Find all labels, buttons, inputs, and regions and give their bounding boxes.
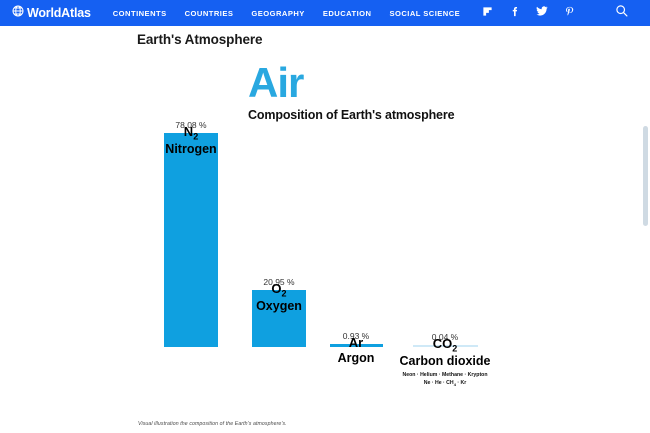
nav-item-countries[interactable]: COUNTRIES xyxy=(185,9,234,18)
globe-icon xyxy=(12,4,24,22)
infographic-caption: Visual illustration the composition of t… xyxy=(138,421,287,427)
site-navbar: WorldAtlas CONTINENTS COUNTRIES GEOGRAPH… xyxy=(0,0,650,26)
bar-name-carbon-dioxide: Carbon dioxide xyxy=(395,354,495,369)
bar-group-argon: 0.93 % Ar Argon xyxy=(311,331,401,347)
site-logo-text: WorldAtlas xyxy=(27,7,91,20)
bar-group-nitrogen: 78.08 % N2 Nitrogen xyxy=(143,120,239,347)
facebook-icon[interactable] xyxy=(509,4,520,22)
trace-gas-names: Neon · Helium · Methane · Krypton xyxy=(395,372,495,380)
search-icon[interactable] xyxy=(615,4,628,22)
nav-item-geography[interactable]: GEOGRAPHY xyxy=(251,9,304,18)
bar-rect-nitrogen[interactable] xyxy=(164,133,218,347)
social-links xyxy=(482,4,575,22)
bar-formula-carbon-dioxide: CO2 xyxy=(395,337,495,354)
bar-group-carbon-dioxide: 0.04 % CO2 Carbon dioxide Neon · Helium … xyxy=(395,332,495,347)
bar-name-nitrogen: Nitrogen xyxy=(143,142,239,157)
infographic-subtitle: Composition of Earth's atmosphere xyxy=(248,108,454,122)
bar-caption-carbon-dioxide: CO2 Carbon dioxide Neon · Helium · Metha… xyxy=(395,332,495,388)
flipboard-icon[interactable] xyxy=(482,4,493,22)
bar-formula-argon: Ar xyxy=(311,336,401,351)
bar-name-argon: Argon xyxy=(311,351,401,366)
nav-item-education[interactable]: EDUCATION xyxy=(323,9,372,18)
bar-name-oxygen: Oxygen xyxy=(231,299,327,314)
infographic-header: Air Composition of Earth's atmosphere xyxy=(248,63,454,122)
bar-formula-oxygen: O2 xyxy=(231,282,327,299)
trace-gas-symbols: Ne · He · CH4 · Kr xyxy=(395,380,495,388)
twitter-icon[interactable] xyxy=(536,4,548,22)
page-scrollbar-track[interactable] xyxy=(642,26,650,433)
nav-item-social-science[interactable]: SOCIAL SCIENCE xyxy=(389,9,460,18)
infographic-title: Air xyxy=(248,63,454,103)
air-composition-infographic: Air Composition of Earth's atmosphere 78… xyxy=(0,55,640,433)
pinterest-icon[interactable] xyxy=(564,4,575,22)
bar-caption-nitrogen: N2 Nitrogen xyxy=(143,120,239,157)
bar-caption-oxygen: O2 Oxygen xyxy=(231,277,327,314)
bar-caption-argon: Ar Argon xyxy=(311,331,401,366)
page-title: Earth's Atmosphere xyxy=(137,32,262,47)
page-scrollbar-thumb[interactable] xyxy=(643,126,648,226)
nav-item-continents[interactable]: CONTINENTS xyxy=(113,9,167,18)
site-logo[interactable]: WorldAtlas xyxy=(12,4,91,22)
primary-nav-links: CONTINENTS COUNTRIES GEOGRAPHY EDUCATION… xyxy=(113,9,460,18)
bar-formula-nitrogen: N2 xyxy=(143,125,239,142)
